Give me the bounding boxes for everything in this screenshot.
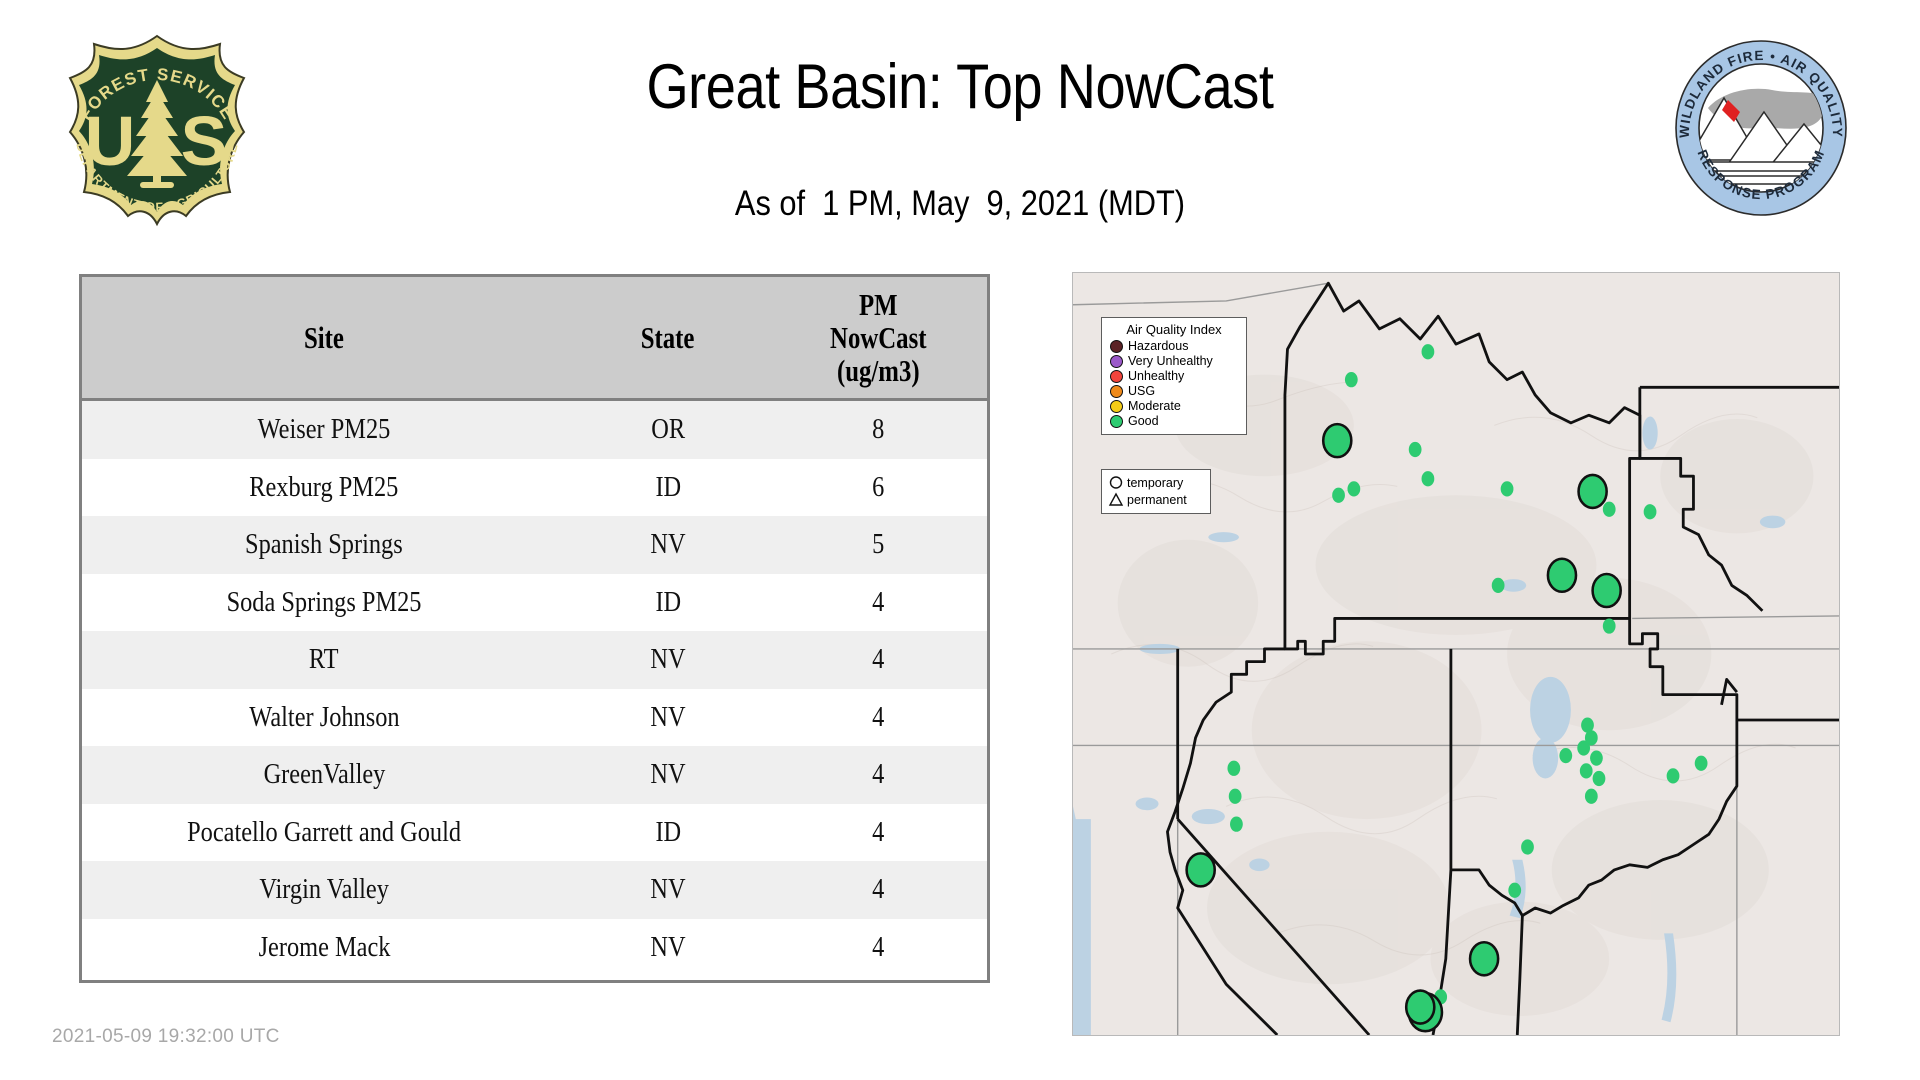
cell-state: ID [566,804,770,862]
cell-value: 4 [770,574,987,632]
monitor-type-label: temporary [1127,476,1183,490]
slide-canvas: FOREST SERVICE U S DEPARTMENT OF AGRICUL… [0,0,1920,1080]
aqi-swatch-very-unhealthy [1110,355,1123,368]
aqi-label: Very Unhealthy [1128,355,1213,368]
table-row: GreenValleyNV4 [82,746,987,804]
cell-site: RT [82,631,566,689]
cell-state: NV [566,689,770,747]
aqi-swatch-good [1110,415,1123,428]
table-header-row: Site State PM NowCast (ug/m3) [82,277,987,400]
cell-value: 6 [770,459,987,517]
table-row: Spanish SpringsNV5 [82,516,987,574]
table-row: Jerome MackNV4 [82,919,987,977]
cell-state: NV [566,516,770,574]
cell-site: Virgin Valley [82,861,566,919]
cell-site: Walter Johnson [82,689,566,747]
cell-site: Soda Springs PM25 [82,574,566,632]
aqi-label: Unhealthy [1128,370,1184,383]
monitor-type-item: permanent [1108,491,1204,508]
aqi-label: Good [1128,415,1159,428]
aqi-swatch-hazardous [1110,340,1123,353]
cell-state: ID [566,459,770,517]
top-nowcast-table: Site State PM NowCast (ug/m3) Weiser PM2… [79,274,990,983]
cell-value: 4 [770,746,987,804]
cell-value: 5 [770,516,987,574]
aqi-swatch-moderate [1110,400,1123,413]
cell-value: 4 [770,919,987,977]
cell-value: 4 [770,804,987,862]
table-row: RTNV4 [82,631,987,689]
aqi-legend: Air Quality Index Hazardous Very Unhealt… [1101,317,1247,435]
monitor-type-item: temporary [1108,474,1204,491]
aqi-legend-item: Unhealthy [1110,369,1240,384]
cell-site: Jerome Mack [82,919,566,977]
column-header-pm-nowcast: PM NowCast (ug/m3) [770,277,987,400]
monitor-type-label: permanent [1127,493,1187,507]
cell-state: NV [566,861,770,919]
triangle-outline-icon [1108,492,1124,507]
cell-value: 4 [770,689,987,747]
aqi-legend-item: Very Unhealthy [1110,354,1240,369]
aqi-legend-item: Moderate [1110,399,1240,414]
cell-site: Weiser PM25 [82,400,566,459]
page-title: Great Basin: Top NowCast [134,52,1785,122]
cell-value: 4 [770,861,987,919]
table-row: Pocatello Garrett and GouldID4 [82,804,987,862]
table-row: Weiser PM25OR8 [82,400,987,459]
cell-state: NV [566,919,770,977]
circle-outline-icon [1108,475,1124,490]
cell-state: NV [566,746,770,804]
aqi-legend-item: Hazardous [1110,339,1240,354]
page-subtitle: As of 1 PM, May 9, 2021 (MDT) [115,184,1805,224]
cell-state: OR [566,400,770,459]
table-row: Virgin ValleyNV4 [82,861,987,919]
monitor-type-legend: temporary permanent [1101,469,1211,514]
wfaqrp-logo: WILDLAND FIRE • AIR QUALITY RESPONSE PRO… [1672,38,1850,218]
column-header-site: Site [82,277,566,400]
aqi-legend-item: Good [1110,414,1240,429]
table-row: Walter JohnsonNV4 [82,689,987,747]
cell-site: Rexburg PM25 [82,459,566,517]
aqi-swatch-usg [1110,385,1123,398]
table-row: Soda Springs PM25ID4 [82,574,987,632]
column-header-state: State [566,277,770,400]
cell-state: NV [566,631,770,689]
footer-timestamp: 2021-05-09 19:32:00 UTC [52,1026,280,1048]
aqi-legend-title: Air Quality Index [1108,322,1240,337]
aqi-label: Hazardous [1128,340,1188,353]
cell-value: 8 [770,400,987,459]
aqi-legend-item: USG [1110,384,1240,399]
nowcast-table: Site State PM NowCast (ug/m3) Weiser PM2… [82,277,987,976]
cell-value: 4 [770,631,987,689]
cell-site: GreenValley [82,746,566,804]
air-quality-monitor-map[interactable]: Air Quality Index Hazardous Very Unhealt… [1072,272,1840,1036]
table-body: Weiser PM25OR8 Rexburg PM25ID6 Spanish S… [82,400,987,977]
cell-site: Spanish Springs [82,516,566,574]
aqi-label: USG [1128,385,1155,398]
cell-state: ID [566,574,770,632]
aqi-label: Moderate [1128,400,1181,413]
table-row: Rexburg PM25ID6 [82,459,987,517]
aqi-swatch-unhealthy [1110,370,1123,383]
cell-site: Pocatello Garrett and Gould [82,804,566,862]
